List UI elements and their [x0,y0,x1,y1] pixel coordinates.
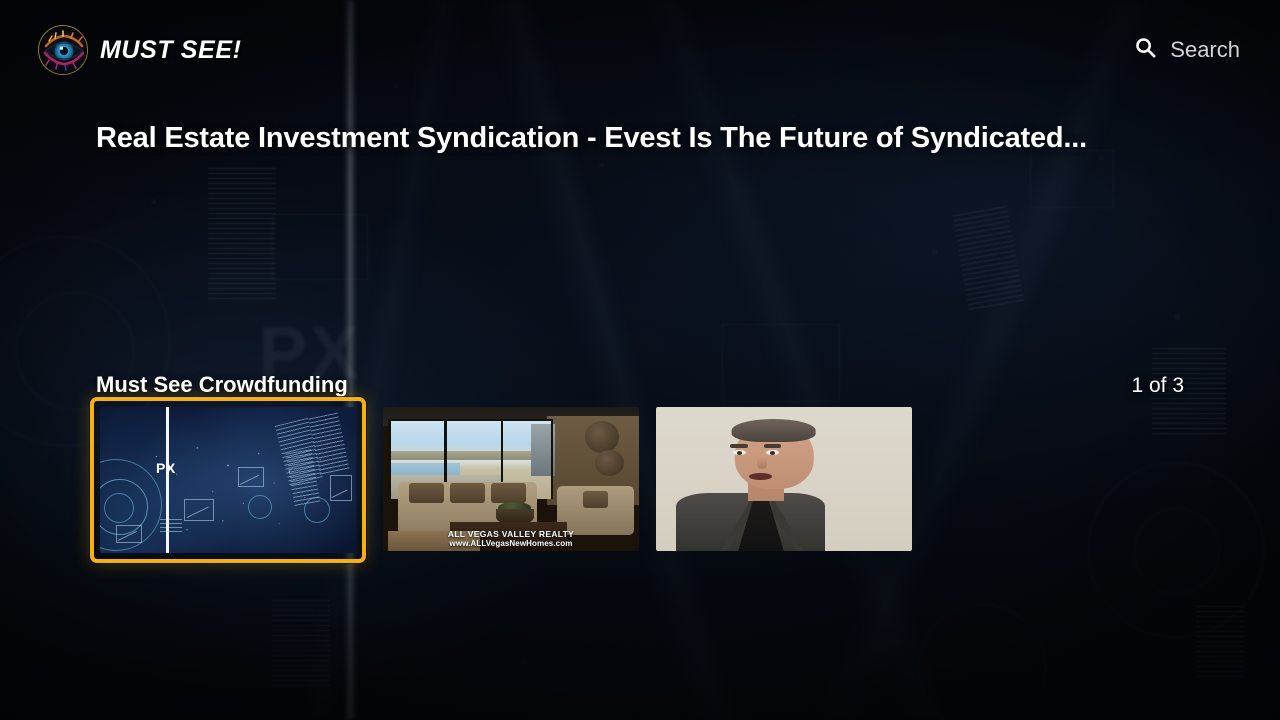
brand-logo-group[interactable]: MUST SEE! [38,25,242,75]
thumbnail-rail[interactable]: PX [0,407,1280,563]
app-root: PX [0,0,1280,720]
thumbnail-card-3[interactable] [656,407,912,551]
content-row: Must See Crowdfunding 1 of 3 [0,372,1280,563]
background-particles [0,0,1280,720]
row-counter: 1 of 3 [1131,374,1184,398]
page-title: Real Estate Investment Syndication - Eve… [96,121,1087,156]
brand-name: MUST SEE! [100,36,242,65]
background-light-pillar [344,0,357,720]
search-button[interactable]: Search [1128,30,1246,70]
thumbnail-2-overlay: ALL VEGAS VALLEY REALTY www.ALLVegasNewH… [383,529,639,548]
background-motifs [0,0,1280,720]
thumbnail-card-2[interactable]: ALL VEGAS VALLEY REALTY www.ALLVegasNewH… [383,407,639,551]
background-vignette [0,0,1280,720]
row-header: Must See Crowdfunding 1 of 3 [0,372,1280,398]
presenter-photo [656,407,912,551]
background-scrim [0,0,1280,720]
background-base [0,0,1280,720]
eye-icon [38,25,88,75]
dataviz-particles [100,407,356,553]
dataviz-art: PX [100,407,356,553]
thumbnail-image-2: ALL VEGAS VALLEY REALTY www.ALLVegasNewH… [383,407,639,551]
thumbnail-card-1[interactable]: PX [90,397,366,563]
dataviz-label: PX [156,460,176,476]
search-icon [1134,36,1157,64]
row-title: Must See Crowdfunding [96,372,348,398]
dataviz-divider [166,407,169,553]
search-label: Search [1170,37,1240,63]
realty-url: www.ALLVegasNewHomes.com [383,539,639,548]
living-room-photo: ALL VEGAS VALLEY REALTY www.ALLVegasNewH… [383,407,639,551]
background-streaks [0,0,1280,720]
thumbnail-image-1: PX [100,407,356,553]
realty-name: ALL VEGAS VALLEY REALTY [383,529,639,539]
thumbnail-image-3 [656,407,912,551]
app-header: MUST SEE! Search [0,0,1280,100]
